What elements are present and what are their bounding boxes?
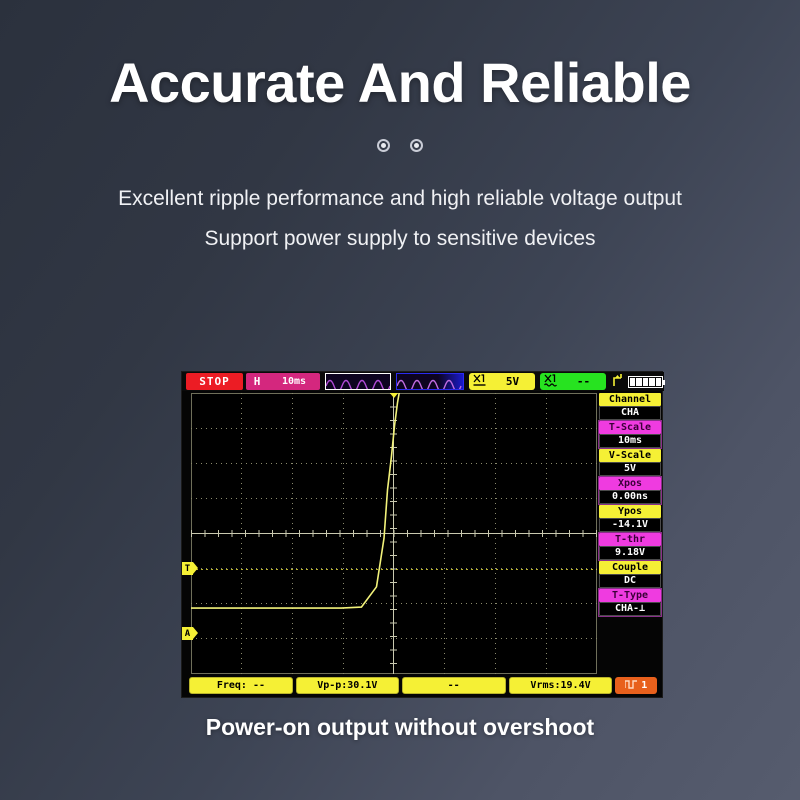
circle-dot-icon xyxy=(410,139,423,152)
param-label: Xpos xyxy=(599,477,661,490)
timebase-value-badge[interactable]: 10ms xyxy=(268,373,320,390)
param-value: CHA xyxy=(599,406,661,420)
param-row-couple[interactable]: Couple DC xyxy=(599,561,661,588)
trigger-edge-icon xyxy=(612,373,623,390)
waveform-plot[interactable] xyxy=(191,393,597,674)
square-wave-icon xyxy=(625,679,637,693)
sine-wave-thumb-icon[interactable] xyxy=(325,373,391,390)
param-value: -14.1V xyxy=(599,518,661,532)
page-title: Accurate And Reliable xyxy=(0,54,800,113)
measurement-empty[interactable]: -- xyxy=(402,677,506,694)
channel-a-ground-cursor[interactable]: A xyxy=(182,627,193,640)
param-label: T-Scale xyxy=(599,421,661,434)
parameter-panel: Channel CHA T-Scale 10ms V-Scale 5V Xpos… xyxy=(599,393,661,617)
oscilloscope-screen: STOP H 10ms 5V xyxy=(181,371,663,698)
run-state-badge[interactable]: STOP xyxy=(186,373,243,390)
sine-wave-thumb-icon[interactable] xyxy=(396,373,464,390)
param-label: Channel xyxy=(599,393,661,406)
channel-a-scale-badge[interactable]: 5V xyxy=(469,373,535,390)
circle-dot-icon xyxy=(377,139,390,152)
measurement-vrms[interactable]: Vrms:19.4V xyxy=(509,677,613,694)
battery-icon xyxy=(628,376,663,388)
page-select-button[interactable]: 1 xyxy=(615,677,657,694)
hero-section: Accurate And Reliable Excellent ripple p… xyxy=(0,0,800,251)
subtitle-line-2: Support power supply to sensitive device… xyxy=(0,227,800,251)
param-value: 10ms xyxy=(599,434,661,448)
bottom-caption: Power-on output without overshoot xyxy=(0,714,800,741)
x1-probe-icon xyxy=(544,374,557,389)
param-row-trigger-threshold[interactable]: T-thr 9.18V xyxy=(599,533,661,560)
param-value: CHA-⊥ xyxy=(599,602,661,616)
channel-b-scale-badge[interactable]: -- xyxy=(540,373,606,390)
channel-a-scale-value: 5V xyxy=(490,376,535,387)
decorative-dots xyxy=(0,139,800,152)
waveform-trace xyxy=(191,393,597,674)
measurement-frequency[interactable]: Freq: -- xyxy=(189,677,293,694)
scope-topbar: STOP H 10ms 5V xyxy=(182,372,664,391)
param-value: 5V xyxy=(599,462,661,476)
channel-b-scale-value: -- xyxy=(561,376,606,387)
param-row-tscale[interactable]: T-Scale 10ms xyxy=(599,421,661,448)
measurement-bar: Freq: -- Vp-p:30.1V -- Vrms:19.4V 1 xyxy=(189,677,657,694)
param-value: 0.00ns xyxy=(599,490,661,504)
param-label: Couple xyxy=(599,561,661,574)
param-value: 9.18V xyxy=(599,546,661,560)
param-row-ypos[interactable]: Ypos -14.1V xyxy=(599,505,661,532)
measurement-vpp[interactable]: Vp-p:30.1V xyxy=(296,677,399,694)
timebase-prefix-label: H xyxy=(246,373,268,390)
param-label: V-Scale xyxy=(599,449,661,462)
param-value: DC xyxy=(599,574,661,588)
param-row-vscale[interactable]: V-Scale 5V xyxy=(599,449,661,476)
param-label: T-Type xyxy=(599,589,661,602)
param-row-xpos[interactable]: Xpos 0.00ns xyxy=(599,477,661,504)
param-row-trigger-type[interactable]: T-Type CHA-⊥ xyxy=(599,589,661,616)
param-label: T-thr xyxy=(599,533,661,546)
param-row-channel[interactable]: Channel CHA xyxy=(599,393,661,420)
page-select-label: 1 xyxy=(641,680,647,691)
trigger-level-cursor[interactable]: T xyxy=(182,562,193,575)
param-label: Ypos xyxy=(599,505,661,518)
subtitle-line-1: Excellent ripple performance and high re… xyxy=(0,187,800,211)
x1-probe-icon xyxy=(473,374,486,389)
